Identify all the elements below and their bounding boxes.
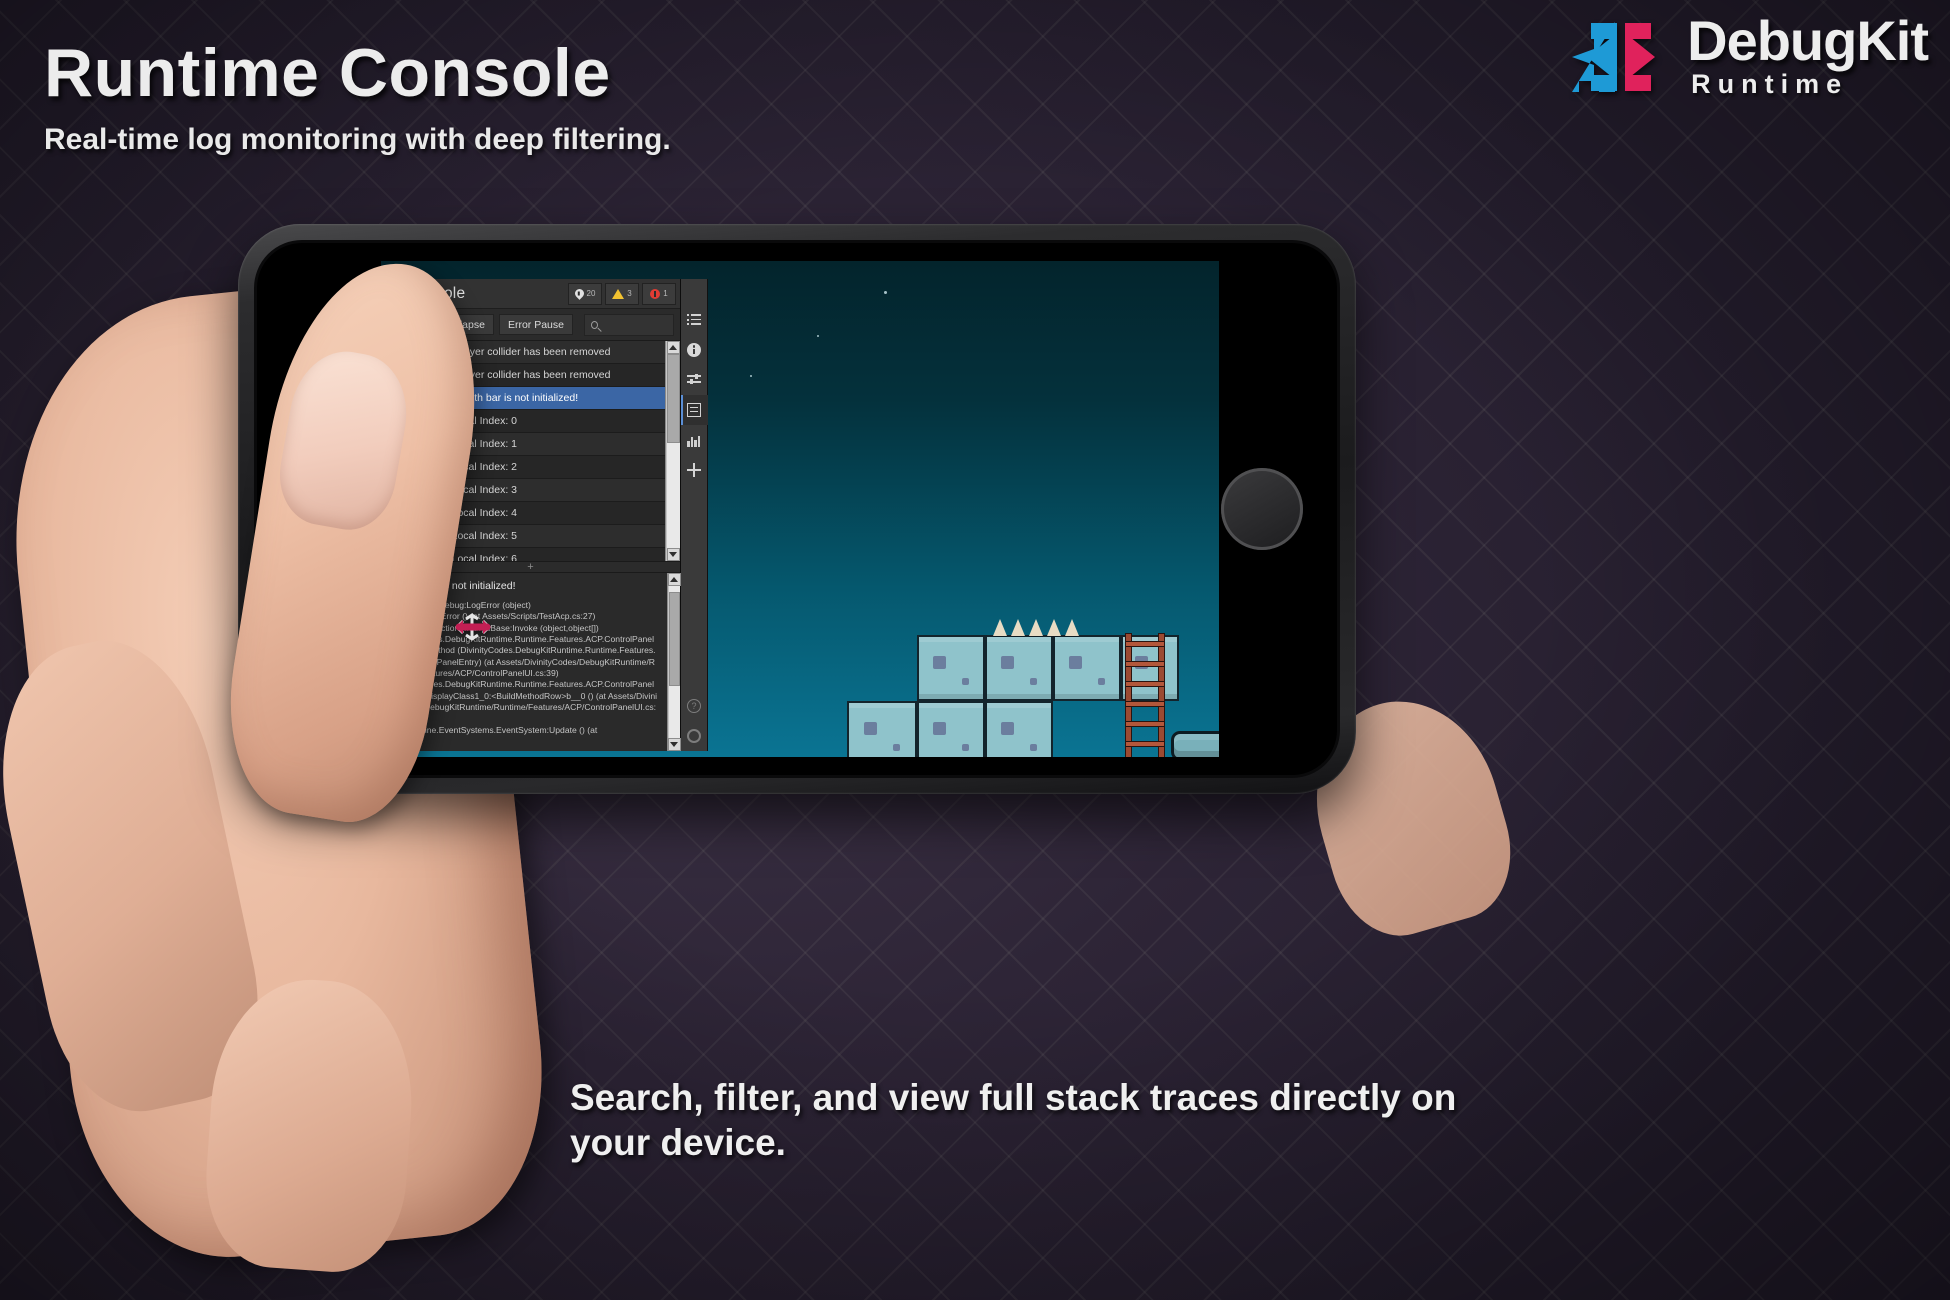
list-icon (687, 313, 701, 327)
log-row-text: [17:16:35] Local Index: 5 (402, 530, 517, 542)
platform (1171, 731, 1219, 757)
log-row[interactable]: [17:16:23] Player collider has been remo… (381, 364, 665, 387)
ladder (1125, 633, 1165, 757)
splitter-glyph: + (527, 562, 533, 573)
scroll-down-button[interactable] (667, 548, 680, 561)
star (750, 375, 752, 377)
log-icon (385, 553, 398, 561)
panel-splitter[interactable]: + (381, 561, 680, 573)
log-row-text: [17:16:35] Local Index: 4 (402, 507, 517, 519)
log-row[interactable]: [17:16:35] Local Index: 1 (381, 433, 665, 456)
page-subtitle: Real-time log monitoring with deep filte… (44, 123, 1044, 157)
log-row[interactable]: [17:16:35] Local Index: 0 (381, 410, 665, 433)
spike (1029, 619, 1043, 636)
logo-subtitle: Runtime (1691, 69, 1848, 100)
footer-caption: Search, filter, and view full stack trac… (570, 1075, 1470, 1165)
terrain-block (985, 701, 1053, 757)
error-icon (650, 289, 660, 299)
log-scrollbar[interactable] (665, 341, 680, 561)
log-icon (573, 287, 586, 300)
stack-scrollbar-thumb[interactable] (669, 592, 680, 686)
debugkit-arrows-icon (1569, 19, 1673, 95)
search-field[interactable] (584, 314, 674, 336)
sidebar-item-settings[interactable] (681, 721, 708, 751)
log-row-text: [17:16:22] Player collider has been remo… (405, 346, 610, 358)
spike (1065, 619, 1079, 636)
spike (1047, 619, 1061, 636)
log-list[interactable]: [17:16:22] Player collider has been remo… (381, 341, 665, 561)
log-row-text: [17:16:35] Local Index: 1 (402, 438, 517, 450)
logo-title: DebugKit (1687, 14, 1928, 67)
log-row-text: [17:16:35] Local Index: 6 (402, 553, 517, 561)
info-icon (687, 343, 701, 357)
log-row-text: [17:16:35] Local Index: 3 (402, 484, 517, 496)
search-input[interactable] (603, 319, 667, 330)
sidebar-item-sliders[interactable] (681, 365, 708, 395)
sliders-icon (687, 373, 701, 387)
sidebar-item-console[interactable] (681, 395, 708, 425)
log-icon (385, 530, 398, 543)
error-icon (387, 393, 397, 403)
log-count-badge[interactable]: 20 (568, 283, 602, 305)
console-header: Console 20 3 1 (381, 279, 680, 309)
log-icon (385, 415, 398, 428)
feature-toolbar: ? (681, 279, 708, 751)
brand-logo: DebugKit Runtime (1569, 14, 1928, 100)
stack-trace-body[interactable]: Health bar is not initialized! UnityEngi… (381, 573, 667, 751)
error-pause-button[interactable]: Error Pause (499, 314, 573, 335)
spike (1011, 619, 1025, 636)
log-row[interactable]: [17:16:35] Local Index: 3 (381, 479, 665, 502)
gear-icon (687, 729, 701, 743)
warning-icon (387, 370, 399, 380)
log-row-text: [17:16:25] Health bar is not initialized… (403, 392, 578, 404)
error-count-badge[interactable]: 1 (642, 283, 676, 305)
stack-scrollbar[interactable] (667, 573, 680, 751)
runtime-console-panel: Console 20 3 1 Clear (381, 279, 681, 751)
scroll-up-button[interactable] (667, 341, 680, 354)
terrain-block (847, 701, 917, 757)
sidebar-item-stats[interactable] (681, 425, 708, 455)
log-row[interactable]: [17:16:35] Local Index: 4 (381, 502, 665, 525)
terrain-block (917, 701, 985, 757)
log-row-text: [17:16:35] Local Index: 0 (402, 415, 517, 427)
log-icon (385, 438, 398, 451)
sidebar-item-move[interactable] (681, 455, 708, 485)
stack-trace-message: Health bar is not initialized! (390, 580, 659, 592)
star (884, 291, 887, 294)
phone-body: Console 20 3 1 Clear (254, 240, 1340, 778)
star (817, 335, 819, 337)
log-count: 20 (587, 289, 596, 298)
console-icon (687, 403, 701, 417)
scrollbar-track[interactable] (667, 354, 680, 548)
log-row-text: [17:16:35] Local Index: 2 (402, 461, 517, 473)
log-row[interactable]: [17:16:35] Local Index: 2 (381, 456, 665, 479)
console-toolbar: Clear Collapse Error Pause (381, 309, 680, 341)
stack-scroll-down-button[interactable] (668, 738, 681, 751)
stack-scroll-up-button[interactable] (668, 573, 681, 586)
sidebar-item-list[interactable] (681, 305, 708, 335)
move-icon (687, 463, 701, 477)
search-icon (591, 321, 598, 329)
warning-icon (387, 347, 399, 357)
phone-device: Console 20 3 1 Clear (238, 224, 1356, 794)
terrain-block (985, 635, 1053, 701)
stack-trace-panel: Health bar is not initialized! UnityEngi… (381, 573, 680, 751)
help-icon: ? (687, 699, 701, 713)
console-menu-icon[interactable] (388, 287, 401, 300)
home-button[interactable] (1221, 468, 1303, 550)
log-icon (385, 507, 398, 520)
terrain-block (1053, 635, 1121, 701)
warning-icon (612, 289, 624, 299)
phone-speaker (285, 476, 295, 542)
log-row-text: [17:16:23] Player collider has been remo… (405, 369, 610, 381)
log-icon (385, 484, 398, 497)
spike (993, 619, 1007, 636)
log-row[interactable]: [17:16:25] Health bar is not initialized… (381, 387, 665, 410)
headline-block: Runtime Console Real-time log monitoring… (44, 38, 1044, 157)
phone-screen: Console 20 3 1 Clear (381, 261, 1219, 757)
log-row[interactable]: [17:16:35] Local Index: 6 (381, 548, 665, 561)
terrain-block (917, 635, 985, 701)
log-icon (385, 461, 398, 474)
clear-button[interactable]: Clear (387, 314, 430, 335)
warning-count-badge[interactable]: 3 (605, 283, 639, 305)
stack-trace-text: UnityEngine.Debug:LogError (object) Test… (390, 600, 659, 736)
warning-count: 3 (627, 289, 631, 298)
log-area: [17:16:22] Player collider has been remo… (381, 341, 680, 561)
resize-handle-icon[interactable] (452, 605, 494, 649)
sidebar-item-help[interactable]: ? (681, 691, 708, 721)
chart-icon (687, 433, 701, 447)
sidebar-item-info[interactable] (681, 335, 708, 365)
collapse-button[interactable]: Collapse (435, 314, 494, 335)
page-title: Runtime Console (44, 38, 1044, 109)
scrollbar-thumb[interactable] (667, 354, 680, 443)
stack-scrollbar-track[interactable] (669, 586, 680, 738)
error-count: 1 (663, 289, 667, 298)
log-row[interactable]: [17:16:22] Player collider has been remo… (381, 341, 665, 364)
logo-wordmark: DebugKit Runtime (1687, 14, 1928, 100)
log-row[interactable]: [17:16:35] Local Index: 5 (381, 525, 665, 548)
console-title: Console (407, 285, 565, 303)
